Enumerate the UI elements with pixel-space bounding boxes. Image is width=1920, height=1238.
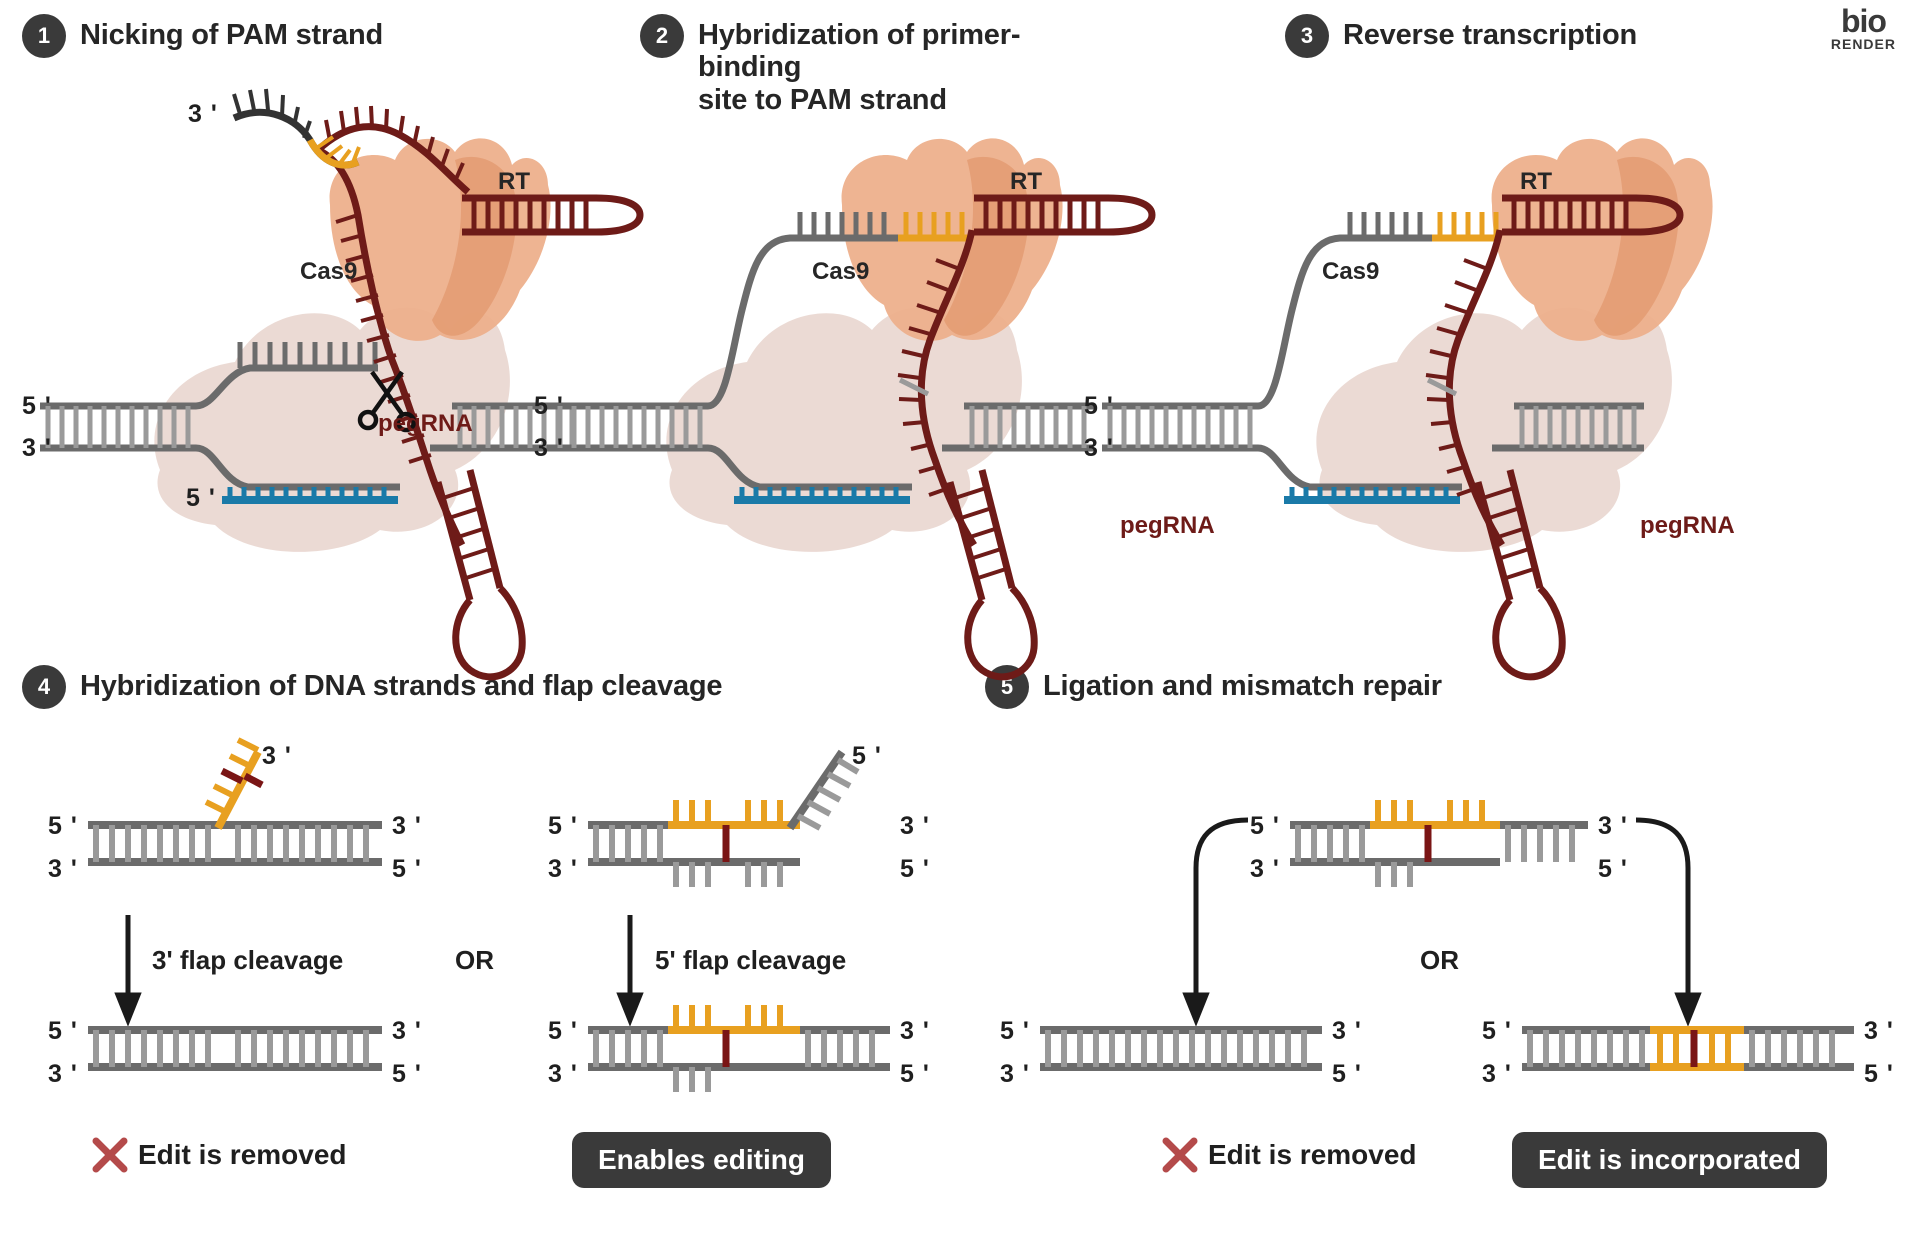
label-p4-right-top-5prime: 5 ' [548,812,578,841]
label-p5-left-bottom-5prime: 5 ' [1000,1017,1030,1046]
label-p4-left-bottom-3prime: 3 ' [48,1060,78,1089]
x-icon-p4-left [90,1135,130,1175]
p5-right-branch-arrow [1636,820,1698,1020]
p4-left-arrow [118,915,138,1020]
label-p5-top-5prime: 5 ' [1250,812,1280,841]
label-p4-right-bottom-right-3prime: 3 ' [900,1017,930,1046]
panel4-graphic [0,0,1920,1238]
p5-right-bottom-rungs [1530,1030,1832,1067]
p4-right-bottom-duplex [588,1030,890,1067]
label-p5-left-bottom-right-3prime: 3 ' [1332,1017,1362,1046]
label-p4-left-top-right-3prime: 3 ' [392,812,422,841]
label-p5-top-right-3prime: 3 ' [1598,812,1628,841]
label-p4-right-top-right-3prime: 3 ' [900,812,930,841]
p4-3prime-flap-edit-base [222,771,242,781]
result-text-p4-left: Edit is removed [138,1139,347,1171]
label-p4-right-top-3prime: 3 ' [548,855,578,884]
label-p5-right-bottom-3prime: 3 ' [1482,1060,1512,1089]
label-p4-or: OR [455,945,494,976]
result-text-p5-left: Edit is removed [1208,1139,1417,1171]
p5-top-rungs [1298,825,1572,862]
p4-right-bottom-rungs [596,1030,872,1067]
result-p4-left: Edit is removed [90,1135,347,1175]
p4-right-top-duplex [588,825,800,862]
figure-canvas: bio RENDER 1 Nicking of PAM strand 2 Hyb… [0,0,1920,1238]
result-p5-left: Edit is removed [1160,1135,1417,1175]
p4-3prime-flap-edit-base-2 [245,776,262,785]
label-p4-left-bottom-right-5prime: 5 ' [392,1060,422,1089]
p5-left-branch-arrow [1186,820,1248,1020]
p4-right-top-rungs [596,825,660,862]
p5-left-bottom-rungs [1048,1030,1304,1067]
badge-enables-editing: Enables editing [572,1132,831,1188]
badge-edit-is-incorporated: Edit is incorporated [1512,1132,1827,1188]
label-p4-right-bottom-5prime: 5 ' [548,1017,578,1046]
label-p5-left-bottom-3prime: 3 ' [1000,1060,1030,1089]
label-p5-left-bottom-right-5prime: 5 ' [1332,1060,1362,1089]
label-p4-right-bottom-right-5prime: 5 ' [900,1060,930,1089]
label-p4-left-bottom-right-3prime: 3 ' [392,1017,422,1046]
label-p4-left-top-right-5prime: 5 ' [392,855,422,884]
label-p4-5prime-flap-cleavage: 5' flap cleavage [655,945,846,976]
label-p4-left-top-5prime: 5 ' [48,812,78,841]
label-p4-right-top-right-5prime: 5 ' [900,855,930,884]
label-p4-right-bottom-3prime: 3 ' [548,1060,578,1089]
label-p4-left-bottom-5prime: 5 ' [48,1017,78,1046]
label-p4-3prime-flap-cleavage: 3' flap cleavage [152,945,343,976]
p5-right-bottom-duplex [1522,1030,1854,1067]
label-p5-or: OR [1420,945,1459,976]
p4-left-top-rungs [96,825,366,862]
p4-left-bottom-rungs [96,1030,366,1067]
label-p4-left-top-3prime: 3 ' [48,855,78,884]
label-p5-right-bottom-right-3prime: 3 ' [1864,1017,1894,1046]
p4-right-arrow [620,915,640,1020]
label-p5-top-3prime: 3 ' [1250,855,1280,884]
label-p4-5prime-flap: 5 ' [852,742,882,771]
x-icon-p5-left [1160,1135,1200,1175]
label-p5-right-bottom-5prime: 5 ' [1482,1017,1512,1046]
label-p5-right-bottom-right-5prime: 5 ' [1864,1060,1894,1089]
label-p5-top-right-5prime: 5 ' [1598,855,1628,884]
p5-top-duplex [1290,825,1588,862]
label-p4-3prime-flap: 3 ' [262,742,292,771]
